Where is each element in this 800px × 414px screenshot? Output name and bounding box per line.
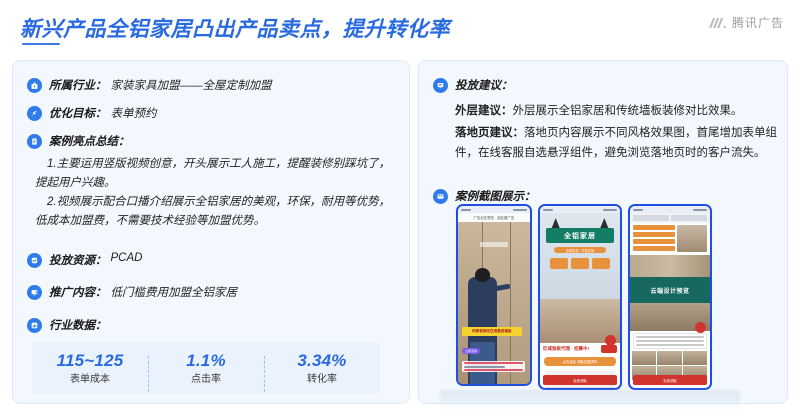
industry-data-row: 行业数据：: [27, 317, 107, 333]
screenshots-row: 案例截图展示：: [433, 188, 536, 204]
statusbar-left-glyph: [543, 209, 553, 211]
feature-item: [633, 239, 675, 244]
phone-mockup-landing-a[interactable]: 全铝家居 全屋定制 · 环保定制 区域独家代理 · 招募中! 点击留言 领取加盟…: [538, 204, 622, 390]
phone-reflection: [440, 390, 740, 412]
lightbulb-icon: [433, 78, 448, 93]
feature-item: [633, 246, 675, 251]
highlights-row: 案例亮点总结：: [27, 133, 130, 149]
statusbar-right-glyph: [603, 209, 617, 211]
phone1-video-frame: 你家装修还在用集成墙板 立即咨询: [458, 222, 530, 386]
phone2-floating-service-icon[interactable]: [605, 335, 616, 346]
phone1-statusbar: [458, 206, 530, 213]
brand-name: 腾讯广告: [732, 14, 784, 31]
rocket-icon: [27, 106, 42, 121]
chart-circle-icon: [27, 253, 42, 268]
video-overlay-tag: [480, 242, 509, 247]
gallery-cell: [657, 351, 681, 365]
case-screenshots: 广告创意预览 · 朋友圈广告 你家装修还在用集成墙板 立即咨询: [440, 204, 740, 404]
phone2-submit-button[interactable]: 免费领取: [543, 375, 617, 385]
statusbar-right-glyph: [513, 209, 527, 211]
chip: [592, 258, 610, 269]
screenshots-label: 案例截图展示：: [455, 188, 536, 204]
outer-suggestion-head: 外层建议：: [455, 105, 513, 117]
phone3-submit-button[interactable]: 免费领取: [633, 375, 707, 385]
phone-mockup-landing-b[interactable]: 云端设计预览 免费领取: [628, 204, 712, 390]
phone1-cta-badge[interactable]: 立即咨询: [462, 348, 481, 354]
phone1-ad-copy: [462, 361, 525, 372]
phone2-statusbar: [540, 206, 620, 213]
title-underline: [22, 43, 60, 45]
phone2-promo-tag: [601, 345, 617, 353]
search-field[interactable]: [671, 215, 707, 221]
monitor-icon: [27, 285, 42, 300]
metric-label: 转化率: [264, 372, 380, 387]
promotion-row: 推广内容： 低门槛费用加盟全铝家居: [27, 284, 237, 300]
metric-form-cost: 115~125 表单成本: [32, 350, 148, 387]
copy-line: [464, 362, 523, 364]
phone-mockup-video-creative[interactable]: 广告创意预览 · 朋友圈广告 你家装修还在用集成墙板 立即咨询: [456, 204, 532, 386]
feature-thumbnail: [677, 225, 707, 252]
promotion-label: 推广内容：: [49, 284, 107, 300]
note-line: [636, 340, 704, 342]
metric-label: 表单成本: [32, 372, 148, 387]
phone2-chips: [550, 258, 611, 269]
feature-item: [633, 232, 675, 237]
phone3-statusbar: [630, 206, 710, 213]
metric-ctr: 1.1% 点击率: [148, 350, 264, 387]
phone2-hero: 全铝家居 全屋定制 · 环保定制: [540, 213, 620, 299]
goal-label: 优化目标：: [49, 105, 107, 121]
briefcase-icon: [27, 78, 42, 93]
industry-value: 家装家具加盟——全屋定制加盟: [111, 77, 272, 93]
phone3-banner: 云端设计预览: [630, 277, 710, 303]
resource-label: 投放资源：: [49, 252, 107, 268]
feature-item: [633, 225, 675, 230]
phone2-cta-button[interactable]: 点击留言 领取加盟资料: [544, 357, 616, 366]
note-line: [636, 344, 704, 346]
phone2-promo-text: 区域独家代理 · 招募中!: [543, 346, 589, 352]
chip: [571, 258, 589, 269]
note-line: [636, 336, 704, 338]
phone3-note-card: [633, 333, 707, 349]
gallery-cell: [632, 351, 656, 365]
phone3-search-bar[interactable]: [630, 213, 710, 223]
statusbar-left-glyph: [633, 209, 643, 211]
promotion-value: 低门槛费用加盟全铝家居: [111, 284, 238, 300]
highlight-item-1: 1.主要运用竖版视频创意，开头展示工人施工，提醒装修别踩坑了，提起用户兴趣。: [35, 155, 397, 193]
metric-conversion-rate: 3.34% 转化率: [264, 350, 380, 387]
metrics-panel: 115~125 表单成本 1.1% 点击率 3.34% 转化率: [32, 342, 380, 394]
resource-row: 投放资源： PCAD: [27, 252, 142, 268]
industry-data-label: 行业数据：: [49, 317, 107, 333]
goal-row: 优化目标： 表单预约: [27, 105, 157, 121]
metric-label: 点击率: [148, 372, 264, 387]
suggestion-label: 投放建议：: [455, 77, 513, 93]
phone3-banner-text: 云端设计预览: [650, 286, 689, 295]
phone3-floating-service-icon[interactable]: [695, 322, 706, 333]
tencent-ads-mark-icon: [705, 16, 727, 30]
highlights-label: 案例亮点总结：: [49, 133, 130, 149]
metric-value: 115~125: [32, 350, 148, 371]
statusbar-left-glyph: [461, 209, 471, 211]
goal-value: 表单预约: [111, 105, 157, 121]
page-title: 新兴产品全铝家居凸出产品卖点，提升转化率: [20, 13, 450, 43]
search-field[interactable]: [633, 215, 669, 221]
copy-line: [464, 366, 506, 368]
page-header: 新兴产品全铝家居凸出产品卖点，提升转化率 腾讯广告: [0, 0, 800, 52]
phone1-caption: 你家装修还在用集成墙板: [462, 327, 522, 336]
chip: [550, 258, 568, 269]
industry-label: 所属行业：: [49, 77, 107, 93]
phone2-subtitle: 全屋定制 · 环保定制: [554, 247, 605, 253]
image-icon: [433, 189, 448, 204]
outer-suggestion-body: 外层展示全铝家居和传统墙板装修对比效果。: [513, 105, 743, 117]
copy-line: [464, 369, 523, 371]
gallery-cell: [683, 351, 707, 365]
phone3-feature-list: [630, 223, 710, 255]
outer-suggestion: 外层建议：外层展示全铝家居和传统墙板装修对比效果。: [455, 101, 777, 121]
document-icon: [27, 134, 42, 149]
landing-suggestion-head: 落地页建议：: [455, 127, 524, 139]
phone3-photo-strip: [630, 255, 710, 277]
bar-chart-icon: [27, 318, 42, 333]
highlight-item-2: 2.视频展示配合口播介绍展示全铝家居的美观，环保，耐用等优势，低成本加盟费，不需…: [35, 193, 397, 231]
feature-items: [633, 225, 675, 253]
metric-value: 3.34%: [264, 350, 380, 371]
suggestion-row: 投放建议：: [433, 77, 513, 93]
statusbar-right-glyph: [693, 209, 707, 211]
brand-logo: 腾讯广告: [705, 14, 784, 31]
phone2-title: 全铝家居: [546, 228, 613, 243]
resource-value: PCAD: [111, 252, 143, 264]
metric-value: 1.1%: [148, 350, 264, 371]
landing-suggestion: 落地页建议：落地页内容展示不同风格效果图，首尾增加表单组件，在线客服自选悬浮组件…: [455, 123, 777, 163]
industry-row: 所属行业： 家装家具加盟——全屋定制加盟: [27, 77, 272, 93]
phone1-navbar: 广告创意预览 · 朋友圈广告: [458, 213, 530, 222]
